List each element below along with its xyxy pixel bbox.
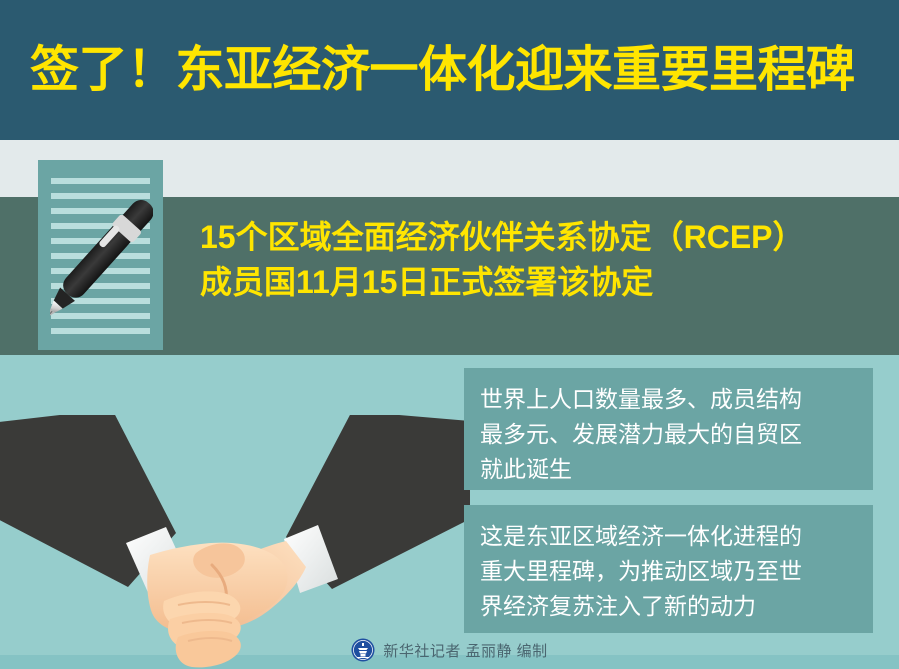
document-line: [51, 178, 150, 184]
callout-1-line-1: 世界上人口数量最多、成员结构: [480, 382, 857, 417]
credit-line: 新华社记者 孟丽静 编制: [0, 638, 899, 662]
document-line: [51, 298, 150, 304]
callout-1-line-3: 就此诞生: [480, 452, 857, 487]
signed-document-icon: [38, 160, 163, 350]
document-line: [51, 253, 150, 259]
subtitle-line-2: 成员国11月15日正式签署该协定: [200, 260, 890, 305]
page-title: 签了！东亚经济一体化迎来重要里程碑: [30, 28, 880, 114]
document-line: [51, 193, 150, 199]
callout-box-2: 这是东亚区域经济一体化进程的 重大里程碑，为推动区域乃至世 界经济复苏注入了新的…: [464, 505, 873, 633]
document-line: [51, 208, 150, 214]
callout-2-line-1: 这是东亚区域经济一体化进程的: [480, 519, 857, 554]
document-line: [51, 238, 150, 244]
callout-1-line-2: 最多元、发展潜力最大的自贸区: [480, 417, 857, 452]
subtitle: 15个区域全面经济伙伴关系协定（RCEP） 成员国11月15日正式签署该协定: [200, 215, 890, 306]
left-accent-block: [0, 140, 6, 197]
document-line: [51, 268, 150, 274]
document-line: [51, 328, 150, 334]
xinhua-logo-icon: [351, 638, 375, 662]
document-line: [51, 283, 150, 289]
callout-2-line-2: 重大里程碑，为推动区域乃至世: [480, 554, 857, 589]
callout-2-line-3: 界经济复苏注入了新的动力: [480, 589, 857, 624]
handshake-icon: [0, 415, 470, 669]
document-line: [51, 313, 150, 319]
document-line: [51, 223, 150, 229]
credit-text: 新华社记者 孟丽静 编制: [383, 640, 547, 661]
callout-box-1: 世界上人口数量最多、成员结构 最多元、发展潜力最大的自贸区 就此诞生: [464, 368, 873, 490]
infographic-poster: 签了！东亚经济一体化迎来重要里程碑: [0, 0, 899, 669]
subtitle-line-1: 15个区域全面经济伙伴关系协定（RCEP）: [200, 215, 890, 260]
